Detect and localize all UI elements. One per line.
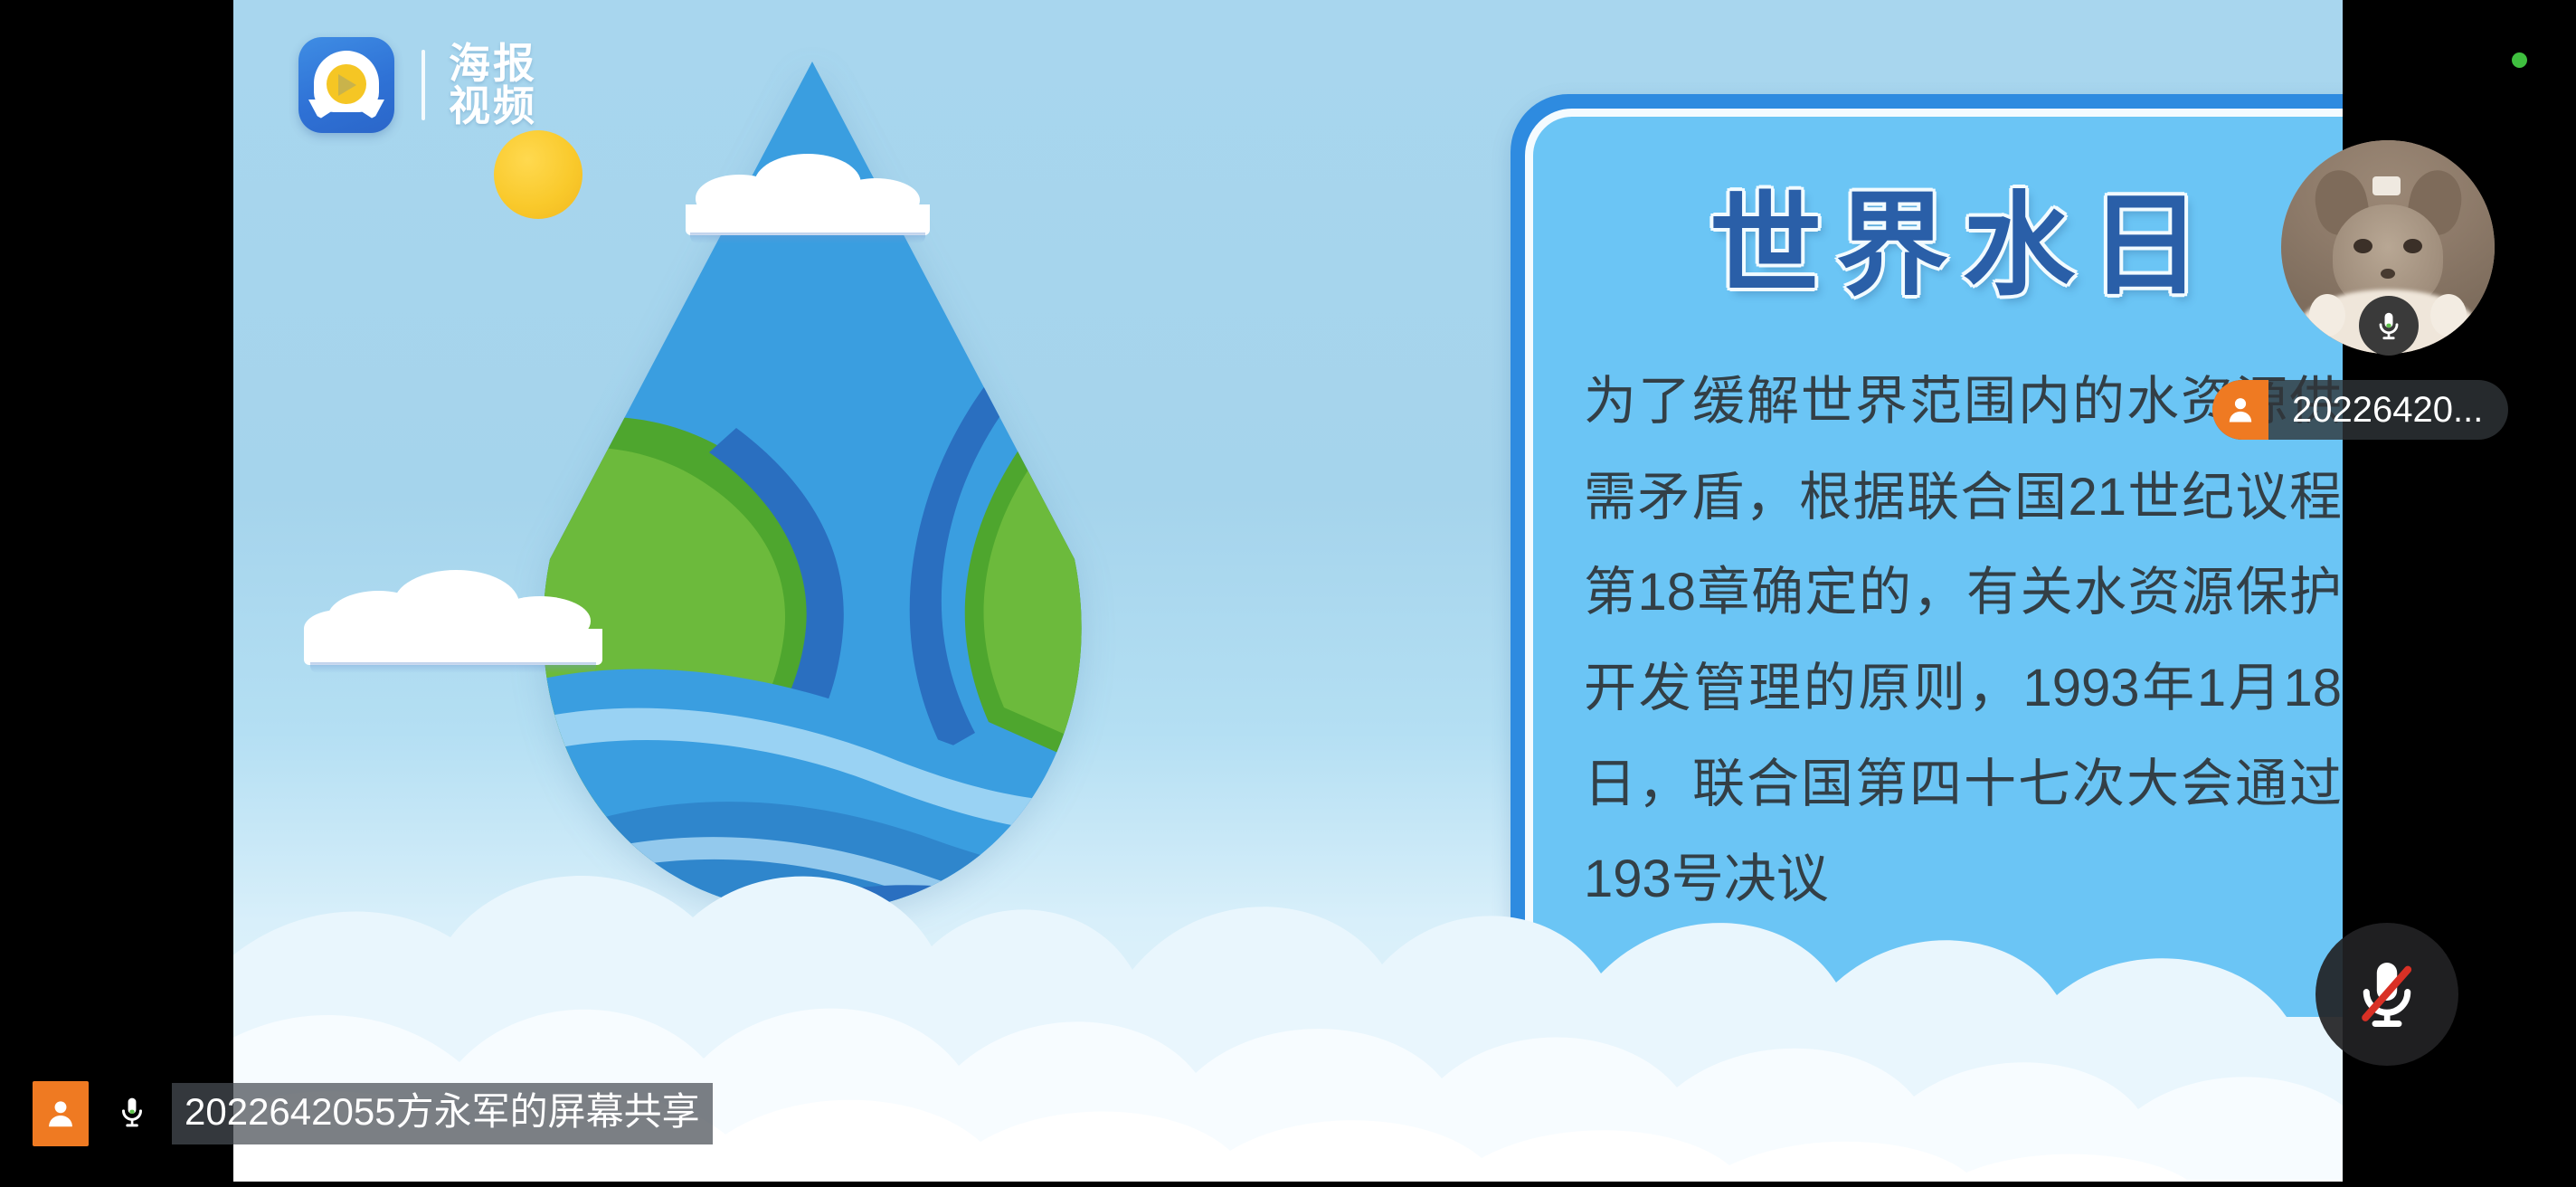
participant-name: 20226420... [2292, 390, 2483, 431]
participant-thumbnail[interactable] [2281, 140, 2495, 354]
microphone-icon [105, 1094, 159, 1134]
person-icon [2212, 380, 2268, 440]
logo-wordmark: 海报 视频 [449, 43, 537, 128]
logo-word-line2: 视频 [449, 85, 537, 128]
world-water-day-card: 世界水日 为了缓解世界范围内的水资源供需矛盾，根据联合国21世纪议程第18章确定… [1511, 94, 2343, 1062]
mute-microphone-button[interactable] [2316, 923, 2458, 1066]
shared-screen-content: 海报 视频 [233, 0, 2343, 1182]
logo-divider [421, 50, 425, 120]
person-icon [33, 1081, 89, 1146]
card-title: 世界水日 [1584, 180, 2342, 312]
haibao-video-logo: 海报 视频 [298, 33, 537, 138]
participant-name-pill: 20226420... [2212, 380, 2508, 440]
logo-word-line1: 海报 [449, 43, 537, 85]
meeting-screen-share-app: 海报 视频 [0, 0, 2576, 1187]
water-drop-earth-illustration [532, 52, 1093, 957]
recording-status-dot [2512, 52, 2527, 68]
screen-share-status-bar: 2022642055方永军的屏幕共享 [33, 1081, 713, 1146]
participant-mic-icon [2359, 296, 2419, 356]
logo-mark-icon [298, 37, 394, 133]
card-body-text: 为了缓解世界范围内的水资源供需矛盾，根据联合国21世纪议程第18章确定的，有关水… [1584, 354, 2342, 926]
screen-share-label: 2022642055方永军的屏幕共享 [172, 1083, 713, 1144]
